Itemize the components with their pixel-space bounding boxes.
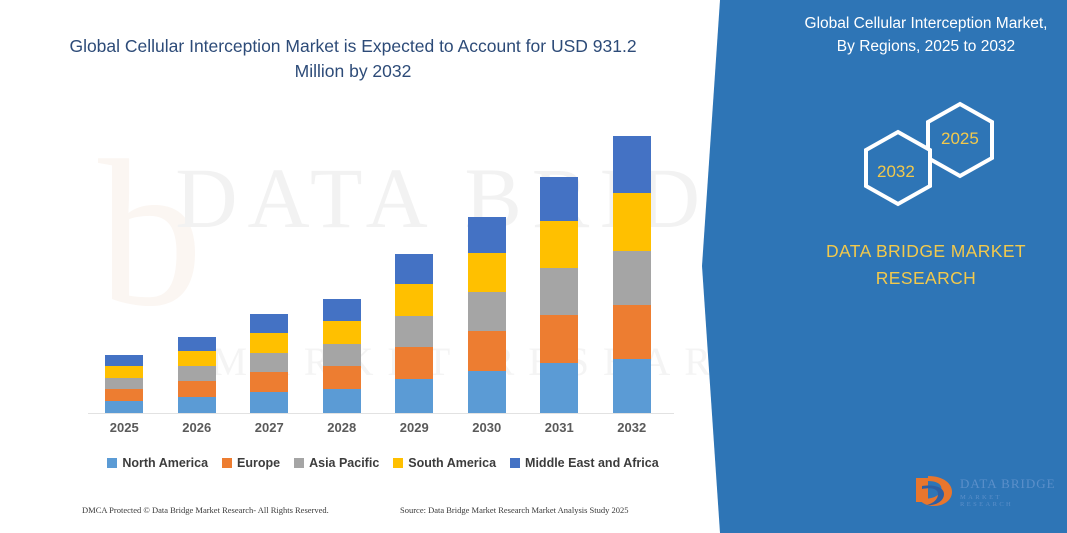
x-axis-label: 2027: [236, 420, 302, 435]
footer-source: Source: Data Bridge Market Research Mark…: [400, 505, 629, 515]
logo-tagline: MARKET RESEARCH: [960, 494, 1057, 508]
hexagon-icons: [820, 100, 1020, 215]
legend-item[interactable]: Europe: [222, 456, 280, 470]
bar-segment: [178, 351, 216, 366]
legend-label: South America: [408, 456, 496, 470]
bar-column: [309, 110, 375, 413]
x-axis-label: 2029: [381, 420, 447, 435]
legend-label: Asia Pacific: [309, 456, 379, 470]
bar-segment: [250, 372, 288, 392]
legend-swatch-icon: [107, 458, 117, 468]
bar-column: [454, 110, 520, 413]
bar-segment: [105, 378, 143, 389]
stacked-bar: [395, 254, 433, 413]
stacked-bar: [178, 337, 216, 413]
bar-segment: [468, 253, 506, 292]
bar-segment: [250, 392, 288, 413]
bar-segment: [395, 379, 433, 413]
bar-segment: [178, 337, 216, 351]
bar-segment: [613, 359, 651, 413]
bar-segment: [323, 321, 361, 344]
bar-group: [88, 110, 668, 413]
bar-segment: [250, 353, 288, 372]
logo-name: DATA BRIDGE: [960, 476, 1057, 492]
bar-segment: [323, 366, 361, 389]
bar-column: [164, 110, 230, 413]
x-axis-label: 2030: [454, 420, 520, 435]
x-axis-label: 2032: [599, 420, 665, 435]
bar-segment: [105, 401, 143, 413]
bar-segment: [323, 299, 361, 321]
legend-swatch-icon: [294, 458, 304, 468]
x-axis-labels: 20252026202720282029203020312032: [88, 420, 668, 435]
bar-segment: [468, 331, 506, 371]
bar-segment: [323, 389, 361, 413]
bar-segment: [250, 333, 288, 353]
stacked-bar: [468, 217, 506, 413]
x-axis-label: 2026: [164, 420, 230, 435]
legend-label: North America: [122, 456, 208, 470]
stacked-bar: [250, 314, 288, 413]
stacked-bar: [613, 136, 651, 413]
bar-segment: [395, 254, 433, 284]
bar-segment: [395, 316, 433, 347]
bar-segment: [468, 292, 506, 331]
legend-item[interactable]: South America: [393, 456, 496, 470]
legend-label: Middle East and Africa: [525, 456, 659, 470]
panel-title: Global Cellular Interception Market, By …: [795, 12, 1057, 59]
legend-swatch-icon: [222, 458, 232, 468]
bar-segment: [395, 284, 433, 316]
chart-legend: North AmericaEuropeAsia PacificSouth Ame…: [88, 456, 678, 470]
stacked-bar: [540, 177, 578, 413]
footer-copyright: DMCA Protected © Data Bridge Market Rese…: [82, 505, 329, 515]
legend-swatch-icon: [510, 458, 520, 468]
hexagon-badges: 2025 2032: [820, 100, 1020, 215]
bar-segment: [540, 315, 578, 363]
x-axis-line: [88, 413, 674, 414]
legend-item[interactable]: North America: [107, 456, 208, 470]
chart-plot-area: [88, 110, 668, 413]
bar-column: [381, 110, 447, 413]
bar-segment: [540, 177, 578, 221]
bar-segment: [613, 193, 651, 251]
bar-segment: [468, 371, 506, 413]
company-logo: DATA BRIDGE MARKET RESEARCH: [912, 472, 1057, 514]
bar-segment: [250, 314, 288, 333]
bar-segment: [178, 366, 216, 381]
bar-column: [236, 110, 302, 413]
brand-line-2: RESEARCH: [795, 265, 1057, 292]
bar-segment: [613, 305, 651, 359]
bar-column: [91, 110, 157, 413]
stacked-bar: [323, 299, 361, 413]
panel-content: Global Cellular Interception Market, By …: [690, 0, 1067, 533]
logo-wordmark: DATA BRIDGE MARKET RESEARCH: [960, 476, 1057, 508]
hexagon-label-start-year: 2025: [941, 129, 979, 149]
x-axis-label: 2025: [91, 420, 157, 435]
chart-pane: Global Cellular Interception Market is E…: [0, 0, 720, 533]
legend-swatch-icon: [393, 458, 403, 468]
bar-segment: [323, 344, 361, 366]
bar-segment: [468, 217, 506, 253]
brand-name: DATA BRIDGE MARKET RESEARCH: [795, 238, 1057, 292]
bar-segment: [613, 251, 651, 305]
stacked-bar: [105, 355, 143, 413]
x-axis-label: 2031: [526, 420, 592, 435]
bar-column: [599, 110, 665, 413]
bar-segment: [178, 397, 216, 413]
hexagon-label-end-year: 2032: [877, 162, 915, 182]
bar-segment: [105, 389, 143, 401]
bar-segment: [178, 381, 216, 397]
bar-segment: [540, 221, 578, 268]
bar-segment: [613, 136, 651, 193]
bar-column: [526, 110, 592, 413]
bar-segment: [395, 347, 433, 379]
bar-segment: [105, 366, 143, 378]
data-bridge-logo-icon: [912, 472, 956, 508]
x-axis-label: 2028: [309, 420, 375, 435]
bar-segment: [540, 268, 578, 315]
bar-segment: [105, 355, 143, 366]
brand-panel: Global Cellular Interception Market, By …: [690, 0, 1067, 533]
chart-title: Global Cellular Interception Market is E…: [58, 34, 648, 85]
legend-item[interactable]: Asia Pacific: [294, 456, 379, 470]
infographic-root: b DATA BRIDGE MARKET RESEARCH Global Cel…: [0, 0, 1067, 533]
legend-item[interactable]: Middle East and Africa: [510, 456, 659, 470]
legend-label: Europe: [237, 456, 280, 470]
bar-segment: [540, 363, 578, 413]
brand-line-1: DATA BRIDGE MARKET: [795, 238, 1057, 265]
